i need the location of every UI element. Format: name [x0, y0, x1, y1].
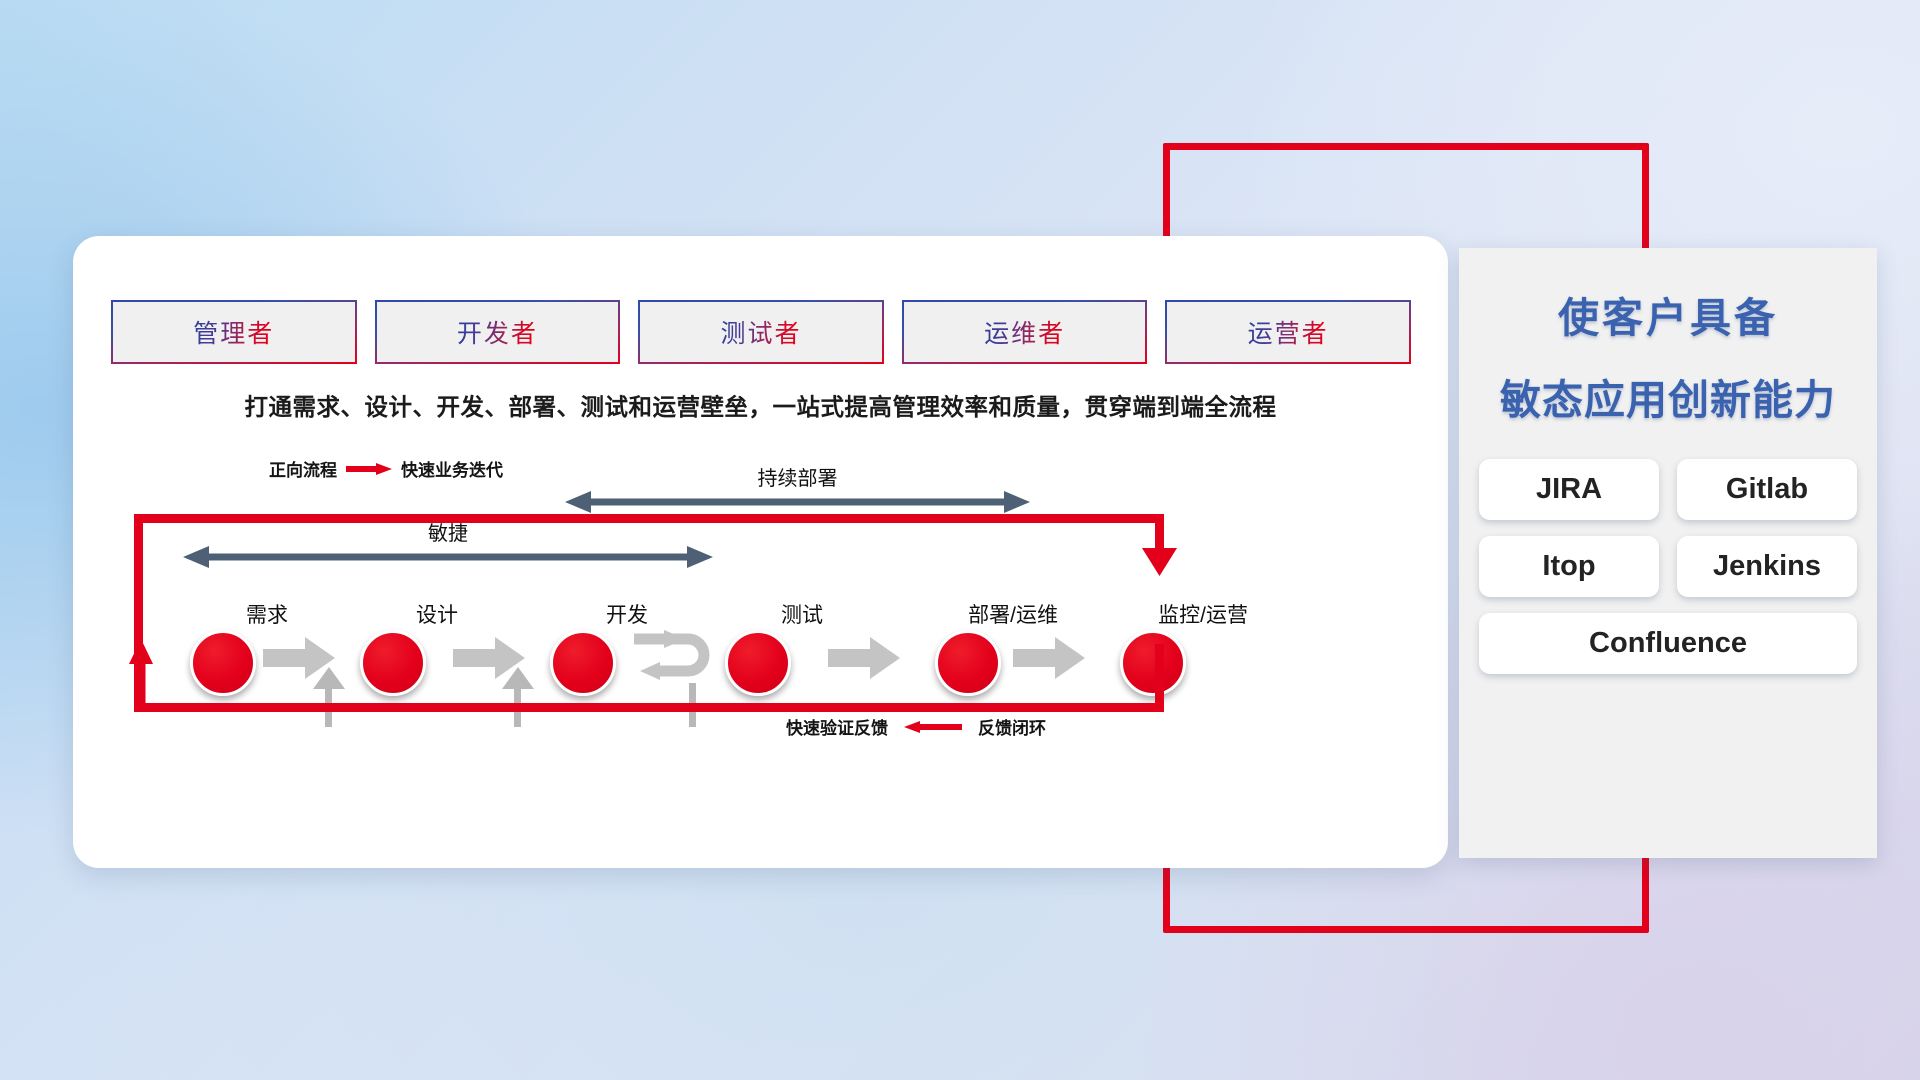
role-box-operations[interactable]: 运营者	[1165, 300, 1411, 364]
tool-pill-itop[interactable]: Itop	[1479, 536, 1659, 597]
tool-pill-grid: JIRA Gitlab Itop Jenkins Confluence	[1459, 426, 1877, 674]
double-arrow-icon	[565, 491, 1030, 513]
tool-label: Jenkins	[1713, 550, 1821, 583]
tool-label: Confluence	[1589, 627, 1747, 660]
role-label: 测试者	[720, 314, 801, 350]
tool-pill-gitlab[interactable]: Gitlab	[1677, 459, 1857, 520]
continuous-deployment-span: 持续部署	[565, 491, 1030, 513]
main-content-card: 管理者 开发者 测试者 运维者 运营者 打通需求、设计、开发、部署、测试和运营壁…	[73, 236, 1448, 868]
tool-pill-confluence[interactable]: Confluence	[1479, 613, 1857, 674]
role-box-developer[interactable]: 开发者	[375, 300, 621, 364]
panel-title-line1: 使客户具备	[1459, 248, 1877, 344]
red-arrow-right-icon	[346, 463, 392, 474]
tool-label: JIRA	[1536, 473, 1602, 506]
tool-label: Gitlab	[1726, 473, 1808, 506]
tool-label: Itop	[1542, 550, 1595, 583]
forward-flow-label: 正向流程	[269, 456, 337, 481]
role-label: 管理者	[193, 314, 274, 350]
tool-pill-jira[interactable]: JIRA	[1479, 459, 1659, 520]
forward-flow-legend: 正向流程 快速业务迭代	[269, 456, 503, 481]
slide-canvas: 管理者 开发者 测试者 运维者 运营者 打通需求、设计、开发、部署、测试和运营壁…	[0, 0, 1920, 1080]
fast-iteration-label: 快速业务迭代	[401, 456, 503, 481]
panel-title-line2: 敏态应用创新能力	[1459, 344, 1877, 426]
role-label: 运维者	[984, 314, 1065, 350]
description-text: 打通需求、设计、开发、部署、测试和运营壁垒，一站式提高管理效率和质量，贯穿端到端…	[73, 388, 1448, 422]
role-box-ops[interactable]: 运维者	[902, 300, 1148, 364]
role-label: 开发者	[457, 314, 538, 350]
role-box-row: 管理者 开发者 测试者 运维者 运营者	[111, 300, 1411, 364]
tool-pill-jenkins[interactable]: Jenkins	[1677, 536, 1857, 597]
red-cycle-loop	[128, 514, 1198, 729]
value-proposition-panel: 使客户具备 敏态应用创新能力 JIRA Gitlab Itop Jenkins …	[1459, 248, 1877, 858]
role-box-manager[interactable]: 管理者	[111, 300, 357, 364]
panel-title: 使客户具备 敏态应用创新能力	[1459, 248, 1877, 426]
role-label: 运营者	[1248, 314, 1329, 350]
role-box-tester[interactable]: 测试者	[638, 300, 884, 364]
span-label: 持续部署	[565, 462, 1030, 491]
